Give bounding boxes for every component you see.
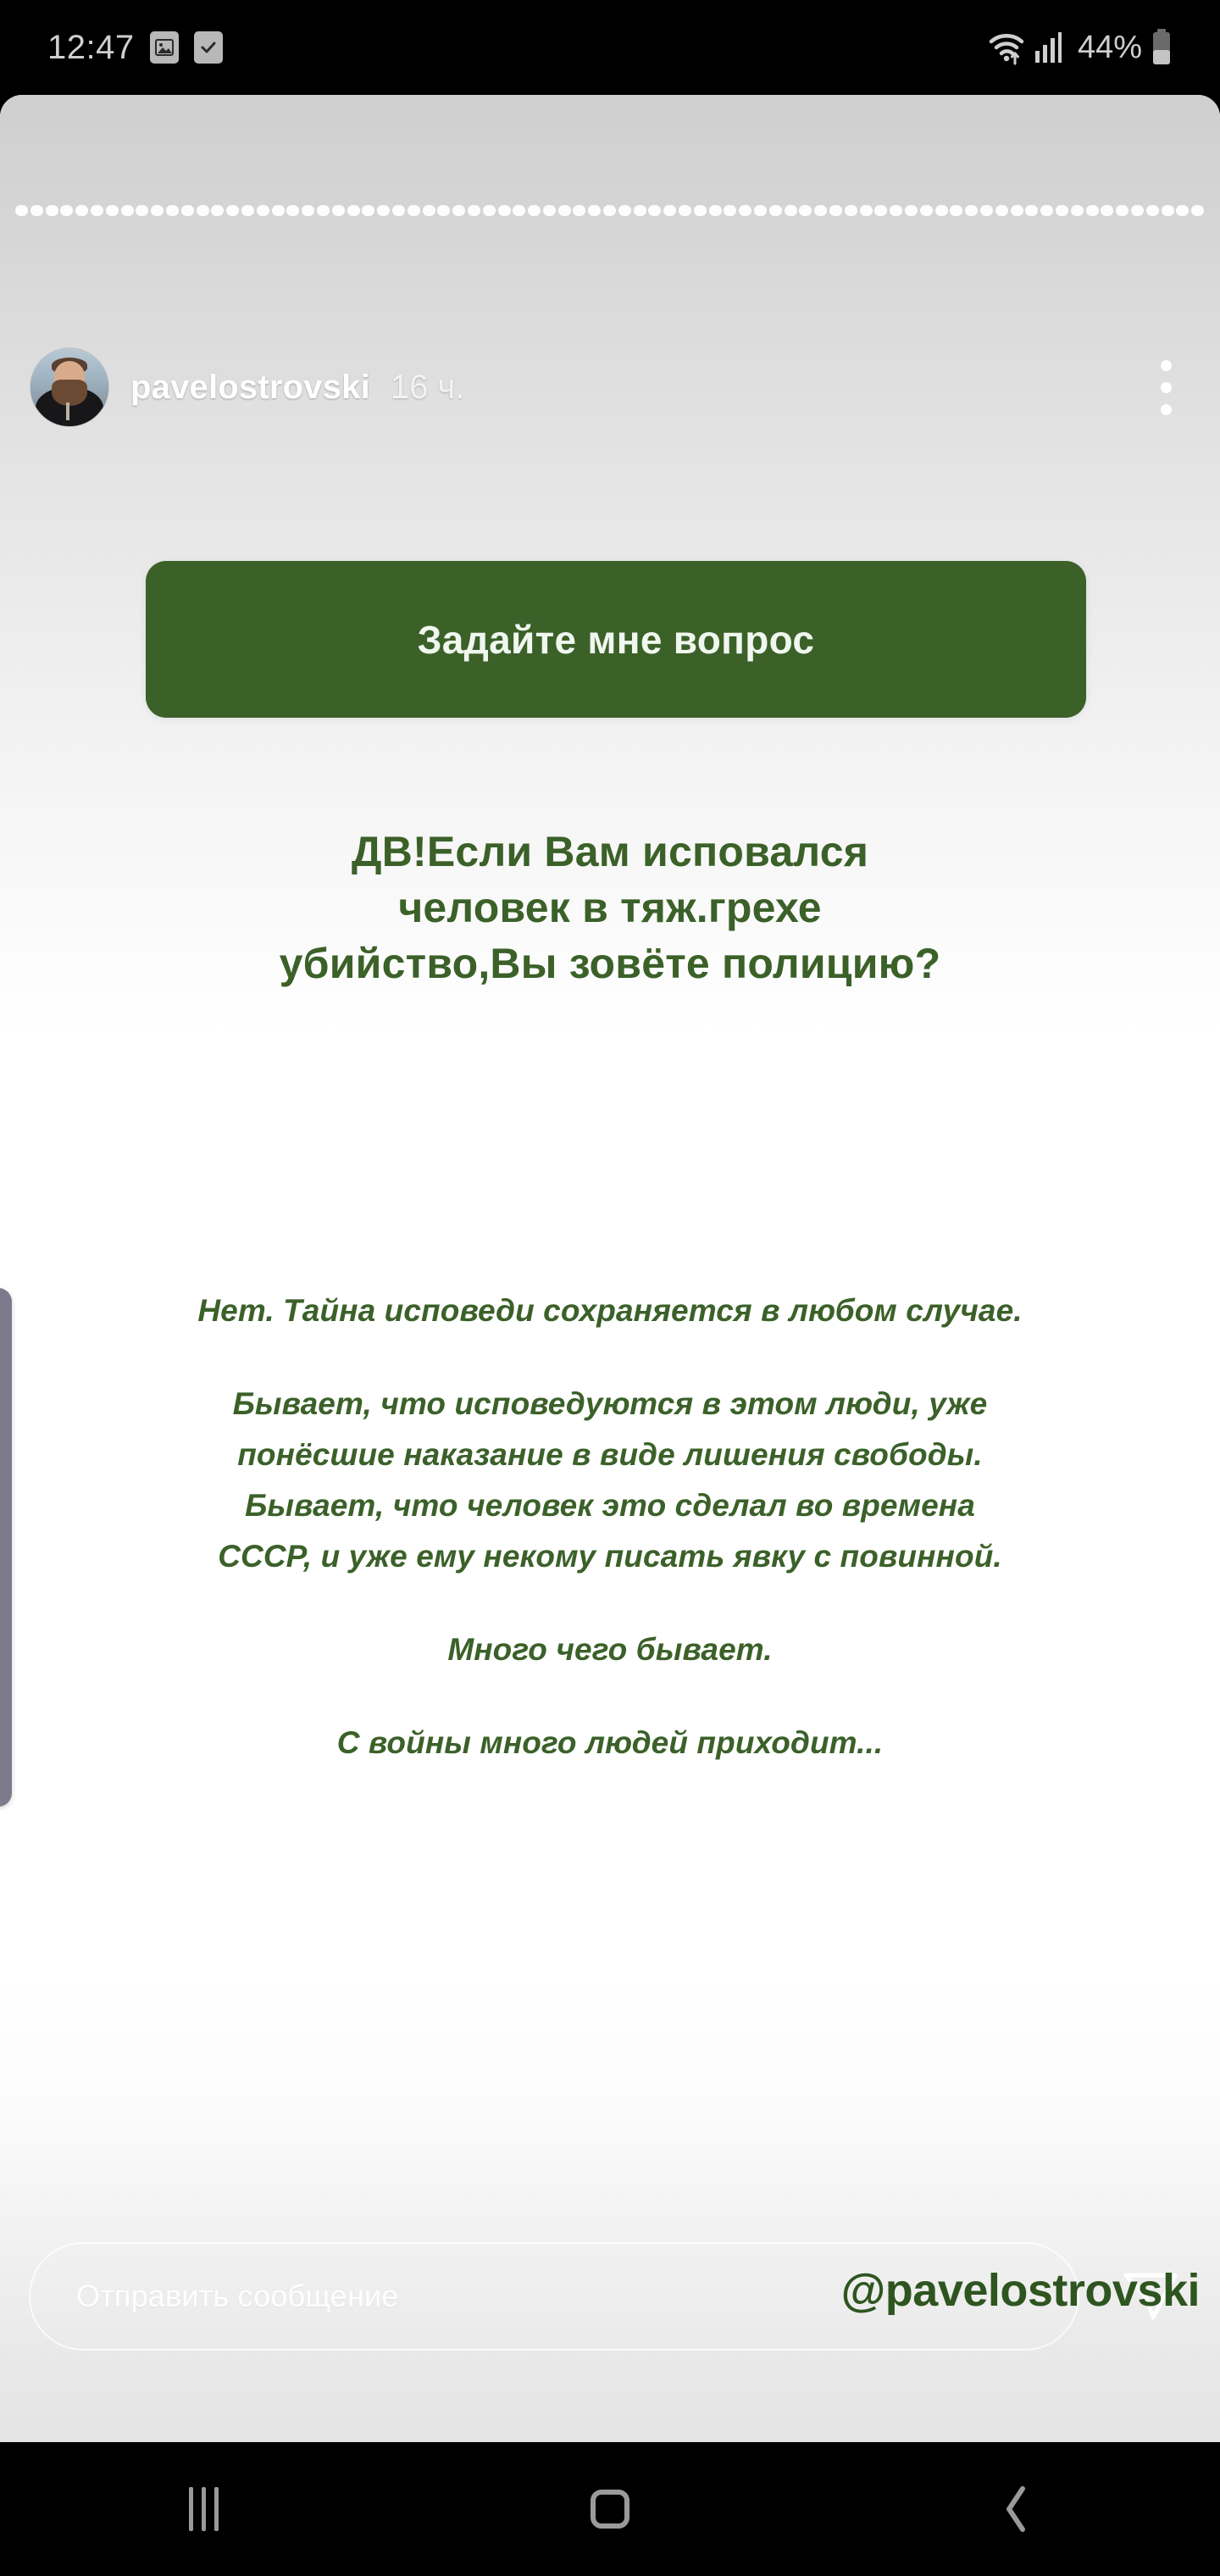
story-progress-segment: [573, 205, 585, 216]
story-progress-segment: [468, 205, 480, 216]
story-progress-segment: [181, 205, 194, 216]
story-progress-segment: [91, 205, 103, 216]
answer-paragraph-gap: [59, 1582, 1161, 1624]
story-progress-segment: [1011, 205, 1023, 216]
status-bar-right: 44%: [988, 29, 1173, 66]
instagram-story-viewer[interactable]: pavelostrovski 16 ч. Задайте мне вопрос …: [0, 95, 1220, 2442]
story-progress-segment: [46, 205, 58, 216]
status-bar-clock: 12:47: [47, 29, 135, 67]
kebab-dot: [1161, 360, 1172, 371]
story-progress-segment: [302, 205, 314, 216]
android-navigation-bar: [0, 2442, 1220, 2576]
story-progress-segment: [1101, 205, 1113, 216]
watermark: @pavelostrovski: [841, 2264, 1200, 2317]
back-icon[interactable]: [813, 2442, 1220, 2576]
phone-screen: 12:47: [0, 0, 1220, 2576]
avatar[interactable]: [30, 348, 108, 426]
story-progress-segment: [241, 205, 254, 216]
story-progress-segment: [754, 205, 767, 216]
story-progress-segment: [483, 205, 496, 216]
home-icon[interactable]: [407, 2442, 813, 2576]
story-progress-segment: [1146, 205, 1159, 216]
story-progress-segment: [814, 205, 827, 216]
story-progress-segment: [272, 205, 285, 216]
story-progress-segment: [197, 205, 209, 216]
recents-icon[interactable]: [0, 2442, 407, 2576]
story-progress-segment: [1040, 205, 1053, 216]
story-header: pavelostrovski 16 ч.: [0, 341, 1220, 434]
answer-text-line: Много чего бывает.: [59, 1624, 1161, 1675]
answer-text-line: Нет. Тайна исповеди сохраняется в любом …: [59, 1285, 1161, 1336]
story-progress-segment: [739, 205, 751, 216]
story-progress-segment: [980, 205, 993, 216]
answer-text-line: Бывает, что исповедуются в этом люди, уж…: [59, 1379, 1161, 1430]
story-username[interactable]: pavelostrovski: [130, 369, 370, 407]
story-progress-segment: [166, 205, 179, 216]
story-progress-segment: [1131, 205, 1144, 216]
recents-bar: [189, 2487, 193, 2531]
recents-bar: [214, 2487, 219, 2531]
story-progress-segment: [785, 205, 797, 216]
story-progress-segment: [950, 205, 962, 216]
answer-paragraph-gap: [59, 1336, 1161, 1379]
story-progress-segment: [724, 205, 736, 216]
kebab-dot: [1161, 382, 1172, 393]
wifi-icon: [988, 30, 1025, 65]
story-progress-segment: [257, 205, 269, 216]
story-progress-segment: [648, 205, 661, 216]
kebab-dot: [1161, 404, 1172, 415]
story-progress-segment: [513, 205, 525, 216]
story-progress-segment: [935, 205, 948, 216]
avatar-beard: [52, 380, 87, 406]
story-progress-segment: [799, 205, 812, 216]
answer-sticker-edge: [0, 1288, 12, 1807]
story-progress-segment: [663, 205, 676, 216]
story-background: [0, 95, 1220, 2442]
story-progress-segment: [1025, 205, 1038, 216]
more-options-icon[interactable]: [1142, 351, 1189, 424]
story-progress-segment: [226, 205, 239, 216]
story-progress-segment: [829, 205, 842, 216]
story-progress-segment: [1056, 205, 1068, 216]
story-progress-segment: [106, 205, 119, 216]
status-bar-left: 12:47: [47, 29, 223, 67]
story-progress-segment: [1176, 205, 1189, 216]
home-shape: [591, 2490, 629, 2529]
story-progress-segment: [920, 205, 933, 216]
story-progress-segment: [995, 205, 1008, 216]
story-progress-segment: [845, 205, 857, 216]
question-text-line: ДВ!Если Вам исповался: [102, 824, 1118, 880]
story-progress-segment: [15, 205, 28, 216]
answer-text-line: Бывает, что человек это сделал во времен…: [59, 1480, 1161, 1531]
story-progress-segment: [1162, 205, 1174, 216]
story-progress-segment: [528, 205, 541, 216]
message-input-placeholder: Отправить сообщение: [76, 2279, 399, 2314]
story-progress-segment: [437, 205, 450, 216]
story-progress-segment: [874, 205, 887, 216]
story-progress-segment: [1191, 205, 1204, 216]
story-progress-segment: [890, 205, 902, 216]
story-progress-segment: [558, 205, 571, 216]
story-progress-segment: [317, 205, 330, 216]
story-progress-segment: [211, 205, 224, 216]
story-progress-segment: [603, 205, 616, 216]
story-progress-segment: [60, 205, 73, 216]
story-progress-segment: [618, 205, 631, 216]
story-progress-segment: [965, 205, 978, 216]
story-progress-segment: [1071, 205, 1084, 216]
story-progress-segment: [769, 205, 782, 216]
image-icon: [150, 31, 179, 64]
story-progress-segment: [498, 205, 511, 216]
story-progress-segment: [377, 205, 390, 216]
story-timestamp: 16 ч.: [391, 369, 465, 407]
question-sticker-button[interactable]: Задайте мне вопрос: [146, 561, 1086, 718]
avatar-chain: [66, 402, 69, 419]
story-progress-bar[interactable]: [15, 204, 1205, 216]
story-progress-segment: [588, 205, 601, 216]
story-progress-segment: [408, 205, 420, 216]
story-progress-segment: [1086, 205, 1099, 216]
question-text-line: человек в тяж.грехе: [102, 880, 1118, 935]
story-progress-segment: [709, 205, 722, 216]
question-sticker-label: Задайте мне вопрос: [418, 617, 815, 663]
story-progress-segment: [423, 205, 435, 216]
checkbox-icon: [194, 31, 223, 64]
story-progress-segment: [347, 205, 360, 216]
story-progress-segment: [136, 205, 148, 216]
question-text: ДВ!Если Вам исповалсячеловек в тяж.грехе…: [102, 824, 1118, 991]
story-progress-segment: [362, 205, 374, 216]
story-progress-segment: [286, 205, 299, 216]
story-progress-segment: [392, 205, 405, 216]
answer-text: Нет. Тайна исповеди сохраняется в любом …: [59, 1285, 1161, 1768]
battery-percent-label: 44%: [1078, 30, 1142, 66]
story-progress-segment: [634, 205, 646, 216]
story-progress-segment: [860, 205, 873, 216]
story-progress-segment: [452, 205, 465, 216]
cellular-signal-icon: [1034, 31, 1064, 64]
status-bar: 12:47: [0, 0, 1220, 95]
story-progress-segment: [75, 205, 88, 216]
story-progress-segment: [1116, 205, 1128, 216]
story-progress-segment: [543, 205, 556, 216]
story-progress-segment: [679, 205, 691, 216]
story-progress-segment: [905, 205, 918, 216]
recents-bar: [202, 2487, 206, 2531]
answer-text-line: СССР, и уже ему некому писать явку с пов…: [59, 1531, 1161, 1582]
answer-text-line: С войны много людей приходит...: [59, 1718, 1161, 1768]
story-progress-segment: [694, 205, 707, 216]
story-progress-segment: [151, 205, 164, 216]
story-progress-segment: [121, 205, 134, 216]
question-text-line: убийство,Вы зовёте полицию?: [102, 935, 1118, 991]
answer-paragraph-gap: [59, 1675, 1161, 1718]
story-progress-segment: [30, 205, 43, 216]
answer-text-line: понёсшие наказание в виде лишения свобод…: [59, 1430, 1161, 1480]
battery-icon: [1151, 29, 1173, 66]
story-progress-segment: [332, 205, 345, 216]
